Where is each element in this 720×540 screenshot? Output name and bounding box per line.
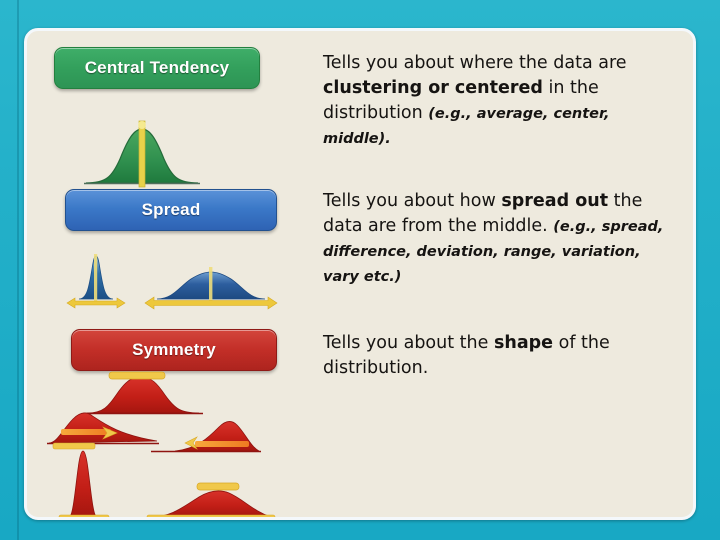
symmetric-mound bbox=[83, 372, 203, 414]
label-central-tendency[interactable]: Central Tendency bbox=[54, 47, 260, 89]
text-segment: Tells you about the bbox=[323, 333, 494, 353]
figure-central-tendency bbox=[82, 119, 202, 191]
text-segment: Tells you about how bbox=[323, 191, 501, 211]
figure-spread bbox=[61, 253, 277, 315]
wide-distribution bbox=[145, 267, 277, 309]
label-spread[interactable]: Spread bbox=[65, 189, 277, 231]
left-skewed-distribution bbox=[47, 413, 159, 449]
text-segment: Tells you about where the data are bbox=[323, 53, 627, 73]
label-symmetry[interactable]: Symmetry bbox=[71, 329, 277, 371]
text-segment-bold: spread out bbox=[501, 191, 608, 211]
description-symmetry: Tells you about the shape of the distrib… bbox=[323, 331, 679, 381]
description-spread: Tells you about how spread out the data … bbox=[323, 189, 679, 288]
text-segment-bold: shape bbox=[494, 333, 553, 353]
figure-symmetry bbox=[47, 371, 307, 520]
right-skewed-distribution bbox=[151, 421, 261, 451]
content-panel: Central Tendency bbox=[24, 28, 696, 520]
description-central-tendency: Tells you about where the data are clust… bbox=[323, 51, 679, 150]
apex-highlight bbox=[138, 121, 146, 129]
text-segment-bold: clustering or centered bbox=[323, 78, 543, 98]
narrow-distribution bbox=[67, 254, 125, 308]
tall-narrow-distribution bbox=[59, 451, 109, 520]
center-marker bbox=[139, 121, 145, 187]
flat-wide-distribution bbox=[147, 483, 275, 520]
slide-canvas: Central Tendency bbox=[0, 0, 720, 540]
